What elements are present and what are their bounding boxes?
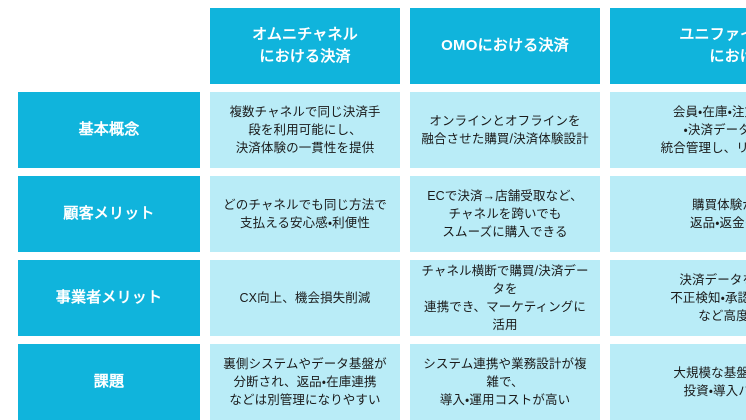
table-corner-cell <box>18 8 200 84</box>
row-header-basic-concept-label: 基本概念 <box>79 119 140 141</box>
table-cell-basic-concept-unified-commerce: 会員・在庫・注文履歴・ポイント ・決済データを単一基盤で 統合管理し、リアルタイ… <box>610 92 746 168</box>
table-cell-text: 大規模な基盤刷新が必要で、 投資・導入ハードルが高い <box>673 364 746 400</box>
table-cell-text: ECで決済→店舗受取など、 チャネルを跨いでも スムーズに購入できる <box>427 187 583 241</box>
table-cell-text: どのチャネルでも同じ方法で 支払える安心感・利便性 <box>223 196 387 232</box>
table-cell-customer-benefit-unified-commerce: 購買体験が完全一貫、 返品・返金もシームレス <box>610 176 746 252</box>
table-cell-business-benefit-omnichannel: CX向上、機会損失削減 <box>210 260 400 336</box>
table-cell-business-benefit-omo: チャネル横断で購買/決済データを 連携でき、マーケティングに活用 <box>410 260 600 336</box>
column-header-omnichannel: オムニチャネル における決済 <box>210 8 400 84</box>
table-cell-text: 購買体験が完全一貫、 返品・返金もシームレス <box>690 196 746 232</box>
table-cell-text: CX向上、機会損失削減 <box>240 289 371 307</box>
row-header-customer-benefit-label: 顧客メリット <box>63 203 154 225</box>
table-cell-challenges-omnichannel: 裏側システムやデータ基盤が 分断され、返品・在庫連携 などは別管理になりやすい <box>210 344 400 420</box>
column-header-unified-commerce-label: ユニファイドコマース における決済 <box>679 24 746 68</box>
table-cell-text: システム連携や業務設計が複雑で、 導入・運用コストが高い <box>420 355 590 409</box>
table-cell-business-benefit-unified-commerce: 決済データを一元分析し、 不正検知・承認率改善・LTV向上 など高度施策が可能 <box>610 260 746 336</box>
row-header-challenges: 課題 <box>18 344 200 420</box>
table-cell-text: 会員・在庫・注文履歴・ポイント ・決済データを単一基盤で 統合管理し、リアルタイ… <box>661 103 746 157</box>
table-cell-basic-concept-omnichannel: 複数チャネルで同じ決済手 段を利用可能にし、 決済体験の一貫性を提供 <box>210 92 400 168</box>
table-cell-text: オンラインとオフラインを 融合させた購買/決済体験設計 <box>421 112 588 148</box>
table-cell-basic-concept-omo: オンラインとオフラインを 融合させた購買/決済体験設計 <box>410 92 600 168</box>
row-header-business-benefit-label: 事業者メリット <box>56 287 162 309</box>
column-header-omnichannel-label: オムニチャネル における決済 <box>252 24 358 68</box>
column-header-omo: OMOにおける決済 <box>410 8 600 84</box>
table-cell-challenges-unified-commerce: 大規模な基盤刷新が必要で、 投資・導入ハードルが高い <box>610 344 746 420</box>
row-header-challenges-label: 課題 <box>94 371 124 393</box>
table-cell-text: 複数チャネルで同じ決済手 段を利用可能にし、 決済体験の一貫性を提供 <box>229 103 380 157</box>
table-cell-customer-benefit-omo: ECで決済→店舗受取など、 チャネルを跨いでも スムーズに購入できる <box>410 176 600 252</box>
table-cell-text: チャネル横断で購買/決済データを 連携でき、マーケティングに活用 <box>420 262 590 335</box>
row-header-basic-concept: 基本概念 <box>18 92 200 168</box>
comparison-table: オムニチャネル における決済 OMOにおける決済 ユニファイドコマース における… <box>0 0 746 420</box>
table-grid: オムニチャネル における決済 OMOにおける決済 ユニファイドコマース における… <box>18 8 746 420</box>
row-header-customer-benefit: 顧客メリット <box>18 176 200 252</box>
column-header-omo-label: OMOにおける決済 <box>441 35 569 57</box>
table-cell-challenges-omo: システム連携や業務設計が複雑で、 導入・運用コストが高い <box>410 344 600 420</box>
table-cell-text: 決済データを一元分析し、 不正検知・承認率改善・LTV向上 など高度施策が可能 <box>670 271 746 325</box>
table-cell-text: 裏側システムやデータ基盤が 分断され、返品・在庫連携 などは別管理になりやすい <box>223 355 386 409</box>
row-header-business-benefit: 事業者メリット <box>18 260 200 336</box>
table-cell-customer-benefit-omnichannel: どのチャネルでも同じ方法で 支払える安心感・利便性 <box>210 176 400 252</box>
column-header-unified-commerce: ユニファイドコマース における決済 <box>610 8 746 84</box>
